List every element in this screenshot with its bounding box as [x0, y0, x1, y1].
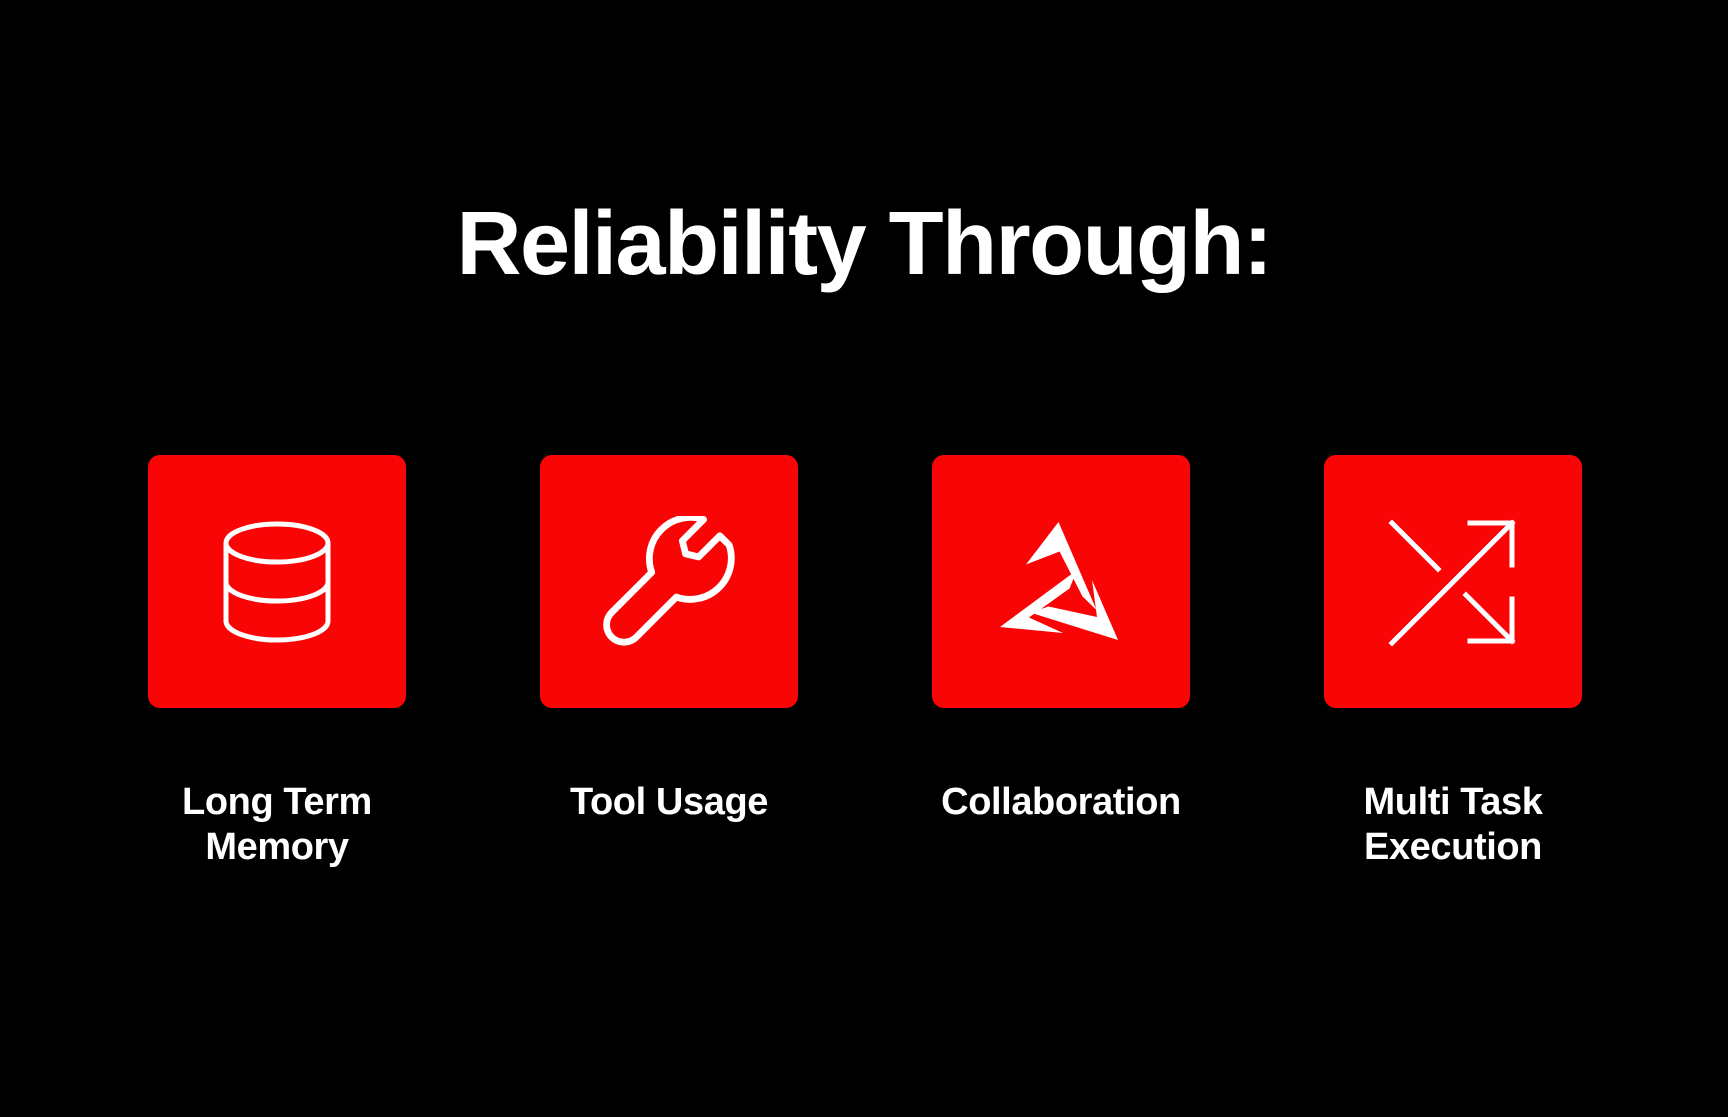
- wrench-icon: [603, 516, 735, 648]
- database-icon: [218, 520, 336, 644]
- slide-canvas: Reliability Through: Long Term Memory: [0, 0, 1728, 1117]
- feature-card-tool-usage[interactable]: Tool Usage: [540, 455, 798, 825]
- icon-tile-multi-task-execution[interactable]: [1324, 455, 1582, 708]
- feature-card-label: Collaboration: [941, 780, 1181, 825]
- feature-card-label: Tool Usage: [570, 780, 768, 825]
- recycle-arrows-icon: [996, 518, 1126, 646]
- feature-card-multi-task-execution[interactable]: Multi Task Execution: [1324, 455, 1582, 870]
- feature-card-long-term-memory[interactable]: Long Term Memory: [148, 455, 406, 870]
- feature-card-collaboration[interactable]: Collaboration: [932, 455, 1190, 825]
- feature-card-row: Long Term Memory Tool Usage: [148, 455, 1582, 870]
- icon-tile-long-term-memory[interactable]: [148, 455, 406, 708]
- feature-card-label: Multi Task Execution: [1364, 780, 1543, 870]
- feature-card-label: Long Term Memory: [182, 780, 372, 870]
- icon-tile-collaboration[interactable]: [932, 455, 1190, 708]
- icon-tile-tool-usage[interactable]: [540, 455, 798, 708]
- page-title: Reliability Through:: [0, 197, 1728, 292]
- shuffle-arrows-icon: [1388, 517, 1518, 647]
